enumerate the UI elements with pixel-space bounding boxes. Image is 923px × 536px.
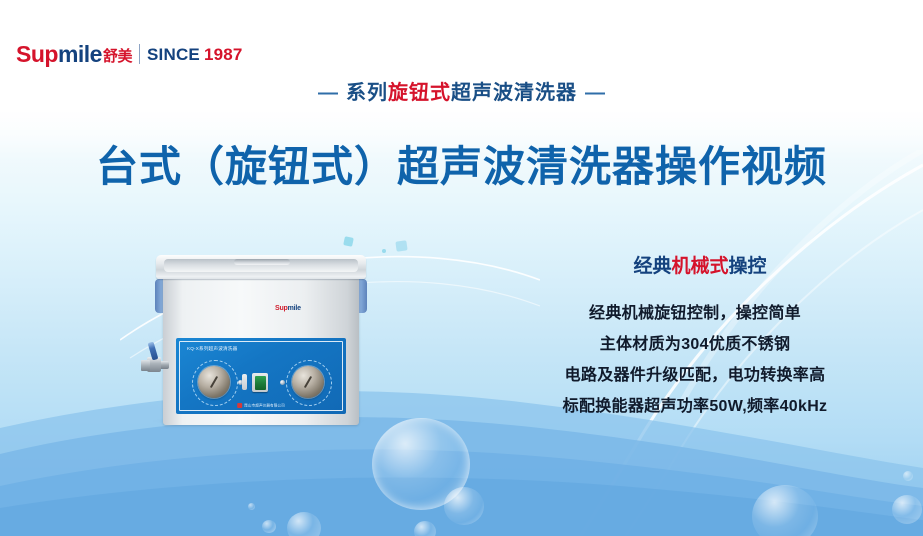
decorative-bubble (287, 512, 321, 536)
series-subtitle: —系列旋钮式超声波清洗器— (0, 76, 923, 105)
subtitle-dash-left: — (318, 82, 338, 104)
decorative-dot (382, 249, 386, 253)
decorative-dot (395, 240, 407, 251)
logo-year-text: 1987 (204, 46, 243, 63)
product-brand-red: Sup (275, 305, 288, 312)
decorative-bubble (414, 521, 436, 536)
subtitle-part1: 系列 (346, 82, 388, 104)
feature-item: 主体材质为304优质不锈钢 (470, 329, 920, 360)
subtitle-part2: 超声波清洗器 (451, 82, 577, 104)
product-lid (156, 255, 366, 279)
feature-list: 经典机械旋钮控制，操控简单 主体材质为304优质不锈钢 电路及器件升级匹配，电功… (470, 298, 920, 422)
feature-headline: 经典机械式操控 (500, 251, 900, 278)
feature-item: 经典机械旋钮控制，操控简单 (470, 298, 920, 329)
decorative-bubble (248, 503, 255, 510)
product-brand-label: Supmile (275, 305, 301, 312)
logo-mile-text: mile (58, 43, 102, 66)
headline-highlight: 机械式 (671, 256, 728, 277)
decorative-bubble (444, 487, 484, 525)
brand-logo: Sup mile 舒美 SINCE 1987 (16, 41, 243, 67)
panel-manufacturer-label: 昆山市超声仪器有限公司 (237, 403, 285, 408)
rocker-face (255, 376, 266, 390)
logo-sup-text: Sup (16, 43, 58, 66)
poster-canvas: Sup mile 舒美 SINCE 1987 —系列旋钮式超声波清洗器— 台式（… (0, 0, 923, 536)
feature-item: 电路及器件升级匹配，电功转换率高 (470, 360, 920, 391)
subtitle-highlight: 旋钮式 (388, 82, 451, 104)
decorative-bubble (892, 495, 922, 524)
drain-valve-nut (141, 360, 150, 371)
heater-knob[interactable] (292, 366, 324, 398)
manufacturer-logo-icon (237, 403, 242, 408)
timer-knob[interactable] (198, 366, 230, 398)
panel-manufacturer-text: 昆山市超声仪器有限公司 (244, 403, 285, 407)
logo-chinese-text: 舒美 (103, 49, 132, 64)
panel-model-label: KQ-X系列超声波清洗器 (187, 346, 237, 352)
fuse-holder[interactable] (242, 374, 247, 390)
product-brand-blue: mile (288, 305, 301, 312)
heater-indicator-led (280, 380, 285, 385)
subtitle-dash-right: — (585, 82, 605, 104)
product-image-ultrasonic-cleaner: Supmile KQ-X系列超声波清洗器 昆山市超声仪器有限公司 (145, 243, 375, 428)
headline-part2: 操控 (729, 256, 767, 277)
page-title: 台式（旋钮式）超声波清洗器操作视频 (0, 133, 923, 194)
feature-item: 标配换能器超声功率50W,频率40kHz (470, 391, 920, 422)
control-panel: KQ-X系列超声波清洗器 昆山市超声仪器有限公司 (176, 338, 346, 414)
decorative-bubble (903, 471, 913, 481)
power-rocker-switch[interactable] (252, 373, 268, 392)
headline-part1: 经典 (633, 256, 671, 277)
logo-since-text: SINCE (147, 46, 200, 63)
decorative-bubble (262, 520, 276, 533)
product-lid-handle (234, 259, 290, 265)
logo-divider (139, 44, 140, 64)
